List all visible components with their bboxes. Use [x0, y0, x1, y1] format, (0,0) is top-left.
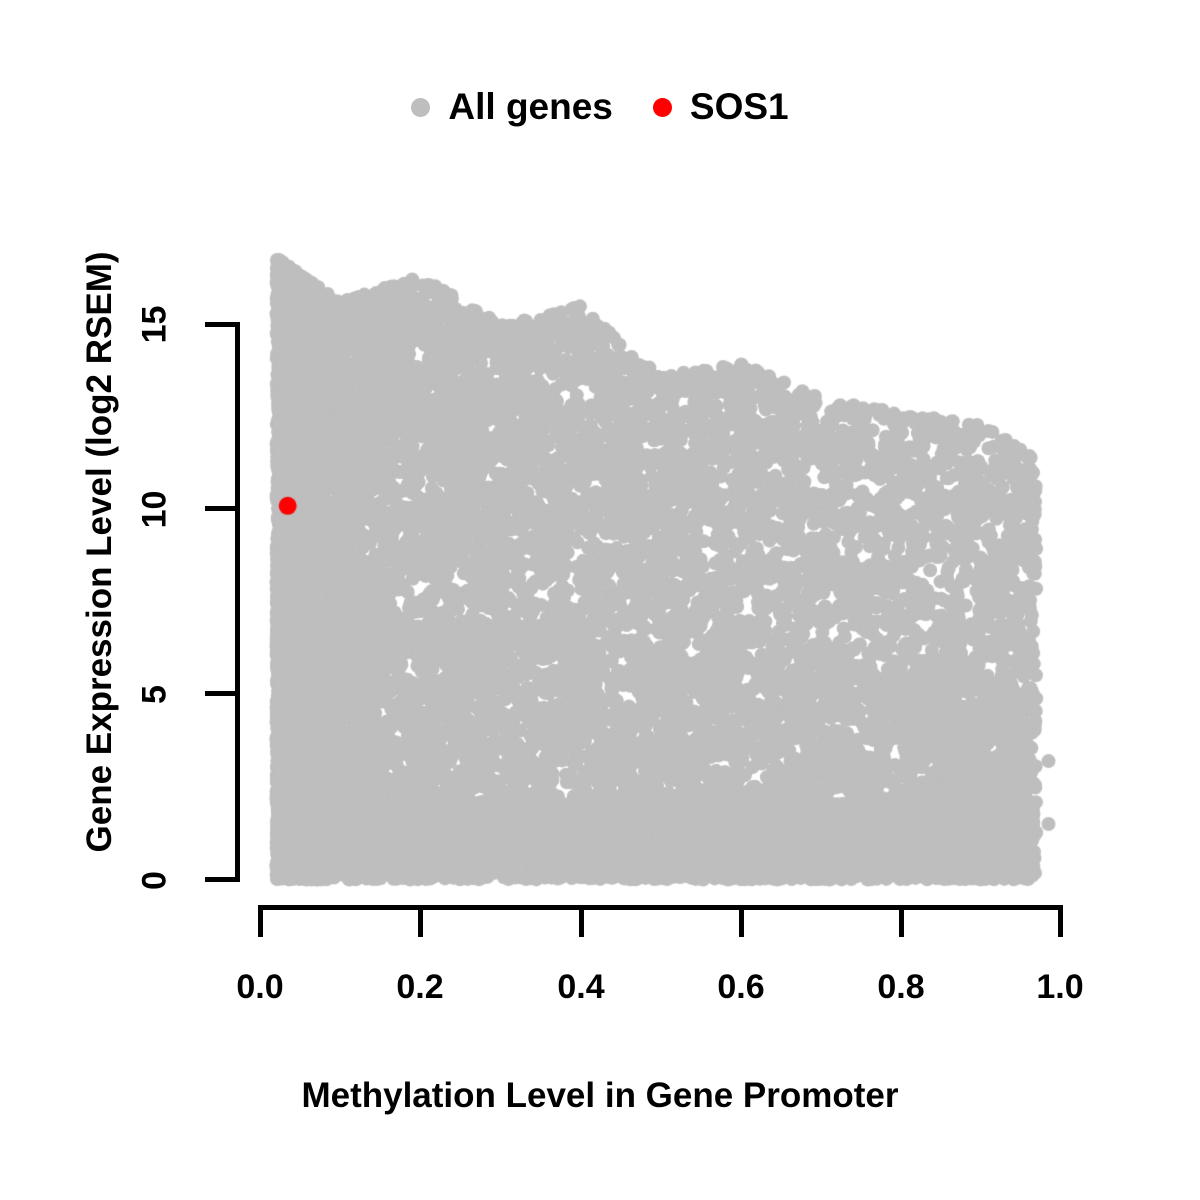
x-tick-label-0-2: 0.2 — [375, 968, 465, 1007]
x-tick-0-4 — [579, 905, 584, 937]
x-tick-label-0-8: 0.8 — [856, 968, 946, 1007]
x-tick-label-0-0: 0.0 — [215, 968, 305, 1007]
x-tick-label-0-4: 0.4 — [536, 968, 626, 1007]
x-axis-line — [258, 905, 1063, 910]
y-tick-label-15: 15 — [136, 295, 175, 355]
x-tick-0-6 — [739, 905, 744, 937]
y-tick-label-10: 10 — [136, 480, 175, 540]
y-tick-10 — [205, 506, 235, 511]
x-tick-0-8 — [899, 905, 904, 937]
y-tick-5 — [205, 691, 235, 696]
y-axis-line — [235, 322, 240, 882]
x-axis-title: Methylation Level in Gene Promoter — [0, 1076, 1200, 1116]
x-tick-label-1-0: 1.0 — [1015, 968, 1105, 1007]
y-tick-label-5: 5 — [136, 675, 175, 715]
x-tick-1-0 — [1058, 905, 1063, 937]
x-tick-0-0 — [258, 905, 263, 937]
scatter-points-layer — [0, 0, 1200, 1200]
y-axis-title: Gene Expression Level (log2 RSEM) — [80, 112, 120, 992]
x-tick-0-2 — [418, 905, 423, 937]
y-tick-label-0: 0 — [136, 861, 175, 901]
y-tick-15 — [205, 322, 235, 327]
scatter-plot-figure: All genes SOS1 15 10 5 0 0.0 0.2 0.4 0.6… — [0, 0, 1200, 1200]
y-tick-0 — [205, 877, 235, 882]
x-tick-label-0-6: 0.6 — [696, 968, 786, 1007]
